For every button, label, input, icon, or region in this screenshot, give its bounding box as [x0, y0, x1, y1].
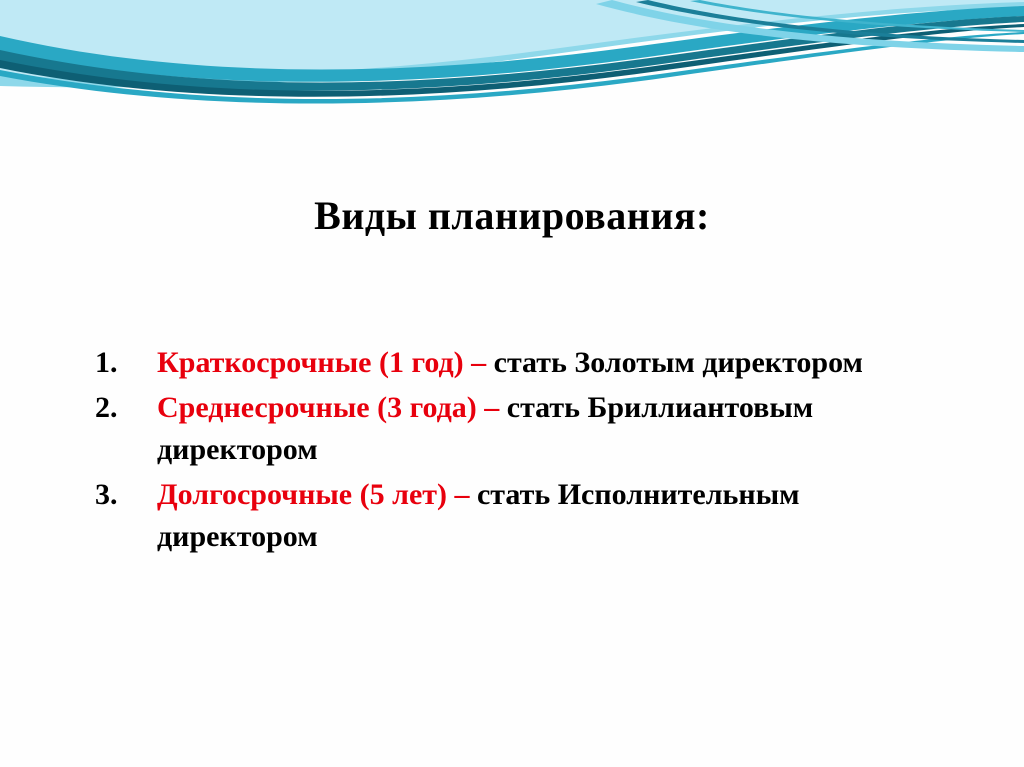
list-item-highlight: Краткосрочные (1 год) –: [157, 346, 494, 379]
list-item-text: Долгосрочные (5 лет) – стать Исполнитель…: [157, 474, 955, 559]
list-item-text: Среднесрочные (3 года) – стать Бриллиант…: [157, 387, 955, 472]
list-item: 1. Краткосрочные (1 год) – стать Золотым…: [95, 342, 955, 385]
list-item: 2. Среднесрочные (3 года) – стать Брилли…: [95, 387, 955, 472]
list-item-text: Краткосрочные (1 год) – стать Золотым ди…: [157, 342, 955, 385]
list-item-highlight: Среднесрочные (3 года) –: [157, 391, 507, 424]
list-item: 3. Долгосрочные (5 лет) – стать Исполнит…: [95, 474, 955, 559]
list-item-marker: 3.: [95, 474, 157, 517]
list-item-highlight: Долгосрочные (5 лет) –: [157, 478, 477, 511]
list-item-marker: 1.: [95, 342, 157, 385]
wave-ribbon-header-icon: [0, 0, 1024, 120]
planning-types-list: 1. Краткосрочные (1 год) – стать Золотым…: [95, 342, 955, 561]
slide: Виды планирования: 1. Краткосрочные (1 г…: [0, 0, 1024, 767]
list-item-rest: стать Золотым директором: [494, 346, 863, 379]
page-title: Виды планирования:: [0, 192, 1024, 239]
list-item-marker: 2.: [95, 387, 157, 430]
